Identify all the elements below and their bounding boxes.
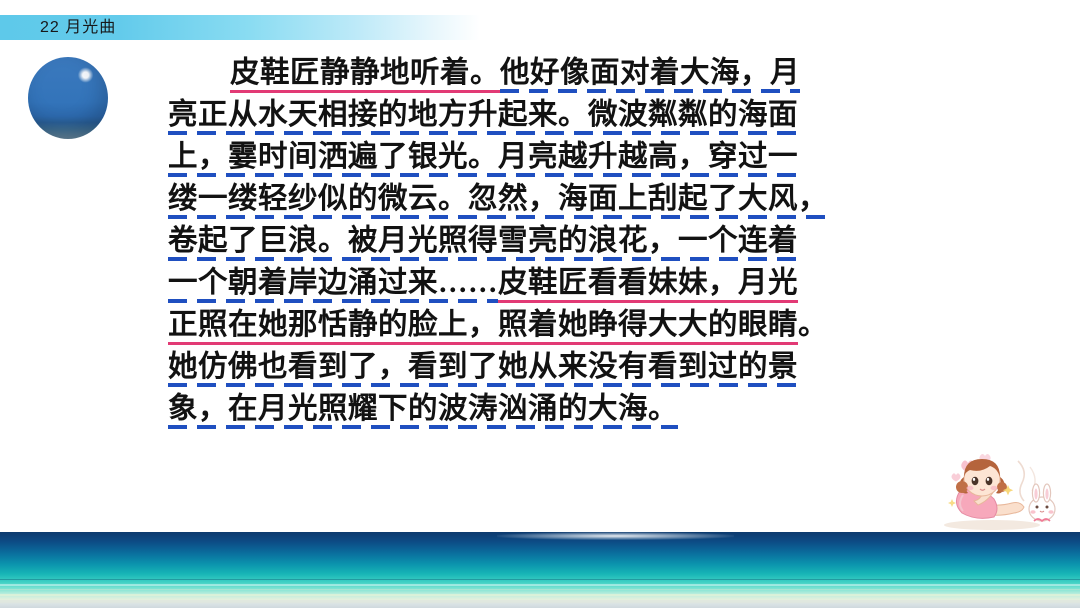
blue-dashed-underlined-text: 上，霎时间洒遍了银光。月亮越升越高，穿过一 <box>168 136 798 178</box>
sea-streak <box>0 579 1080 580</box>
passage-line: 正照在她那恬静的脸上，照着她睁得大大的眼睛。 <box>168 304 958 346</box>
blue-dashed-underlined-text: 缕一缕轻纱似的微云。忽然，海面上刮起了大风， <box>168 178 828 220</box>
blue-dashed-underlined-text: 他好像面对着大海，月 <box>500 52 800 94</box>
passage-line: 缕一缕轻纱似的微云。忽然，海面上刮起了大风， <box>168 178 958 220</box>
blue-sphere-decoration <box>28 57 108 139</box>
blue-dashed-underlined-text: 象，在月光照耀下的波涛汹涌的大海。 <box>168 388 678 430</box>
passage-line: 亮正从水天相接的地方升起来。微波粼粼的海面 <box>168 94 958 136</box>
red-underlined-text: 正照在她那恬静的脸上，照着她睁得大大的眼睛 <box>168 304 798 346</box>
blue-dashed-underlined-text: 亮正从水天相接的地方升起来。微波粼粼的海面 <box>168 94 798 136</box>
passage-line: 她仿佛也看到了，看到了她从来没有看到过的景 <box>168 346 958 388</box>
passage-text-block: 皮鞋匠静静地听着。他好像面对着大海，月亮正从水天相接的地方升起来。微波粼粼的海面… <box>168 52 958 430</box>
passage-line: 卷起了巨浪。被月光照得雪亮的浪花，一个连着 <box>168 220 958 262</box>
sea-streak <box>0 589 1080 590</box>
red-underlined-text: 皮鞋匠看看妹妹，月光 <box>498 262 798 304</box>
passage-line: 上，霎时间洒遍了银光。月亮越升越高，穿过一 <box>168 136 958 178</box>
sea-streak <box>0 600 1080 603</box>
ocean-seascape-banner <box>0 532 1080 608</box>
blue-dashed-underlined-text: 她仿佛也看到了，看到了她从来没有看到过的景 <box>168 346 798 388</box>
sea-streak <box>0 594 1080 596</box>
blue-dashed-underlined-text: 卷起了巨浪。被月光照得雪亮的浪花，一个连着 <box>168 220 798 262</box>
passage-line: 一个朝着岸边涌过来……皮鞋匠看看妹妹，月光 <box>168 262 958 304</box>
cartoon-girl-with-bunny-illustration <box>930 447 1070 537</box>
header-bar <box>0 15 1080 40</box>
page-title: 22 月光曲 <box>40 14 116 41</box>
moon-glow <box>497 532 735 540</box>
plain-text: 。 <box>798 304 828 346</box>
blue-dashed-underlined-text: 一个朝着岸边涌过来…… <box>168 262 498 304</box>
red-underlined-text: 皮鞋匠静静地听着。 <box>230 52 500 94</box>
passage-line: 象，在月光照耀下的波涛汹涌的大海。 <box>168 388 958 430</box>
sea-streak <box>0 584 1080 586</box>
passage-line: 皮鞋匠静静地听着。他好像面对着大海，月 <box>168 52 958 94</box>
